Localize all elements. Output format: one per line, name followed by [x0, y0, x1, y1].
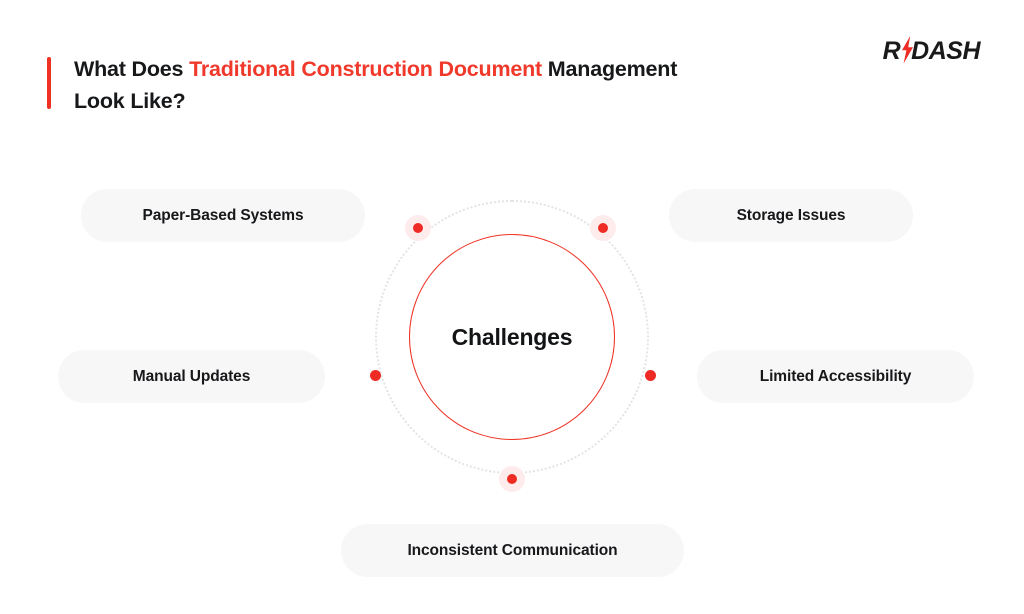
- challenge-pill-manual-updates[interactable]: Manual Updates: [58, 350, 325, 403]
- node-dot-paper-based-systems[interactable]: [405, 215, 431, 241]
- node-dot-manual-updates[interactable]: [362, 362, 388, 388]
- challenge-pill-paper-based-systems[interactable]: Paper-Based Systems: [81, 189, 365, 242]
- node-dot-storage-issues[interactable]: [590, 215, 616, 241]
- challenge-pill-limited-accessibility[interactable]: Limited Accessibility: [697, 350, 974, 403]
- challenge-pill-storage-issues[interactable]: Storage Issues: [669, 189, 913, 242]
- challenge-pill-inconsistent-communication[interactable]: Inconsistent Communication: [341, 524, 684, 577]
- node-dot-limited-accessibility[interactable]: [637, 362, 663, 388]
- diagram-center-label: Challenges: [409, 234, 615, 440]
- infographic-canvas: What Does Traditional Construction Docum…: [0, 0, 1024, 614]
- node-dot-inconsistent-communication[interactable]: [499, 466, 525, 492]
- challenges-diagram: Challenges Paper-Based Systems Storage I…: [0, 0, 1024, 614]
